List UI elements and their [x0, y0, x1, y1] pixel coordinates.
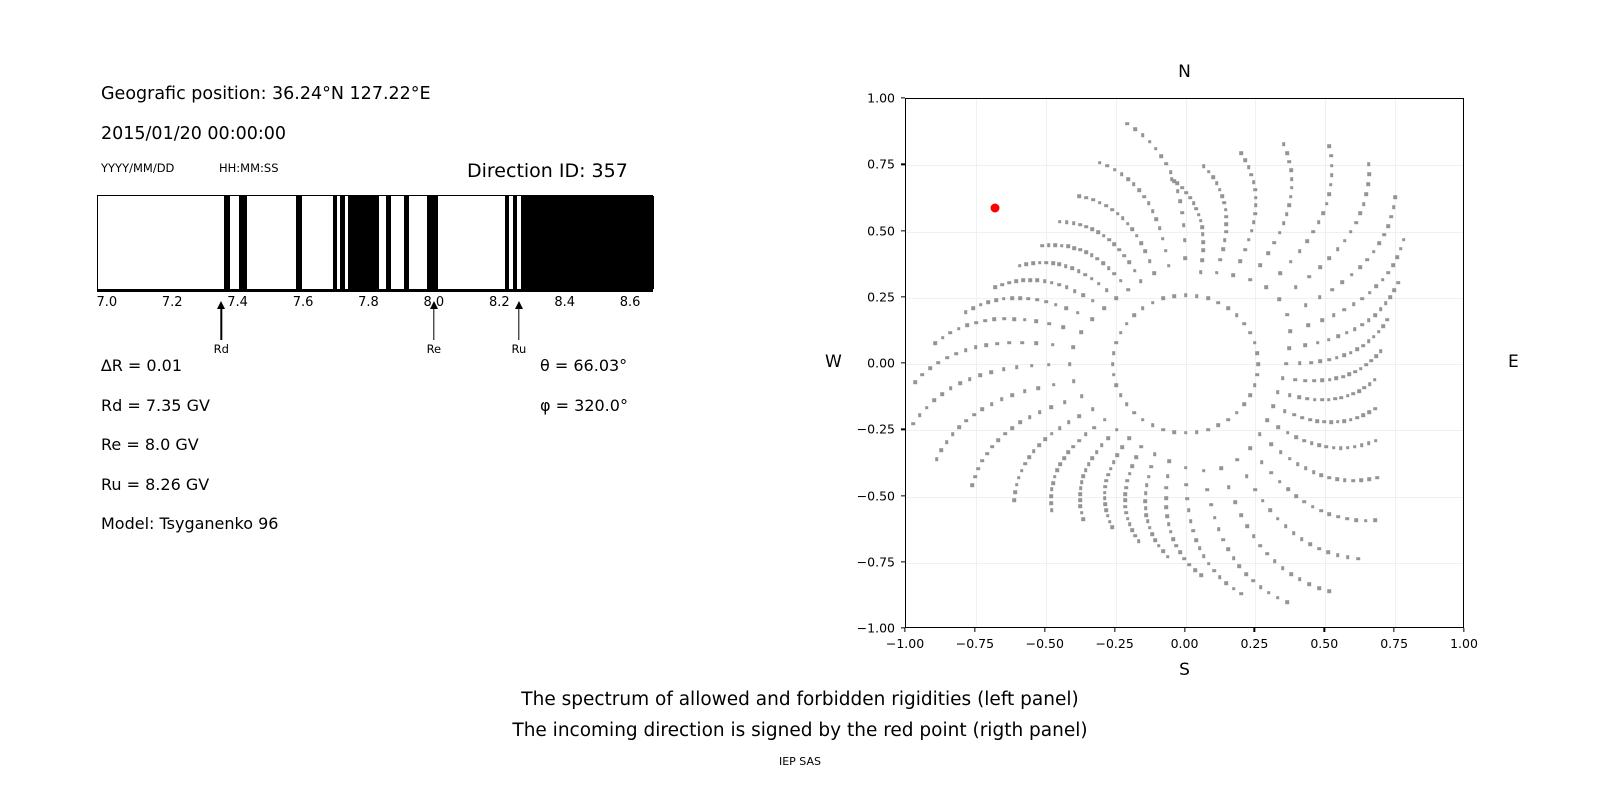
direction-dot	[1355, 518, 1359, 522]
direction-dot	[1051, 481, 1055, 485]
direction-dot	[1258, 263, 1262, 267]
direction-dot	[1143, 250, 1147, 254]
direction-dot	[1002, 297, 1006, 301]
direction-dot	[1124, 486, 1128, 490]
direction-dot	[1084, 433, 1088, 437]
forbidden-band	[239, 196, 247, 289]
direction-dot	[1023, 318, 1027, 322]
rigidity-spectrum-chart	[97, 195, 653, 290]
direction-dot	[1032, 449, 1036, 453]
direction-dot	[1359, 367, 1363, 371]
y-tick-mark	[901, 429, 905, 430]
direction-dot	[1286, 431, 1290, 435]
direction-dot	[1119, 393, 1123, 397]
direction-dot	[1335, 376, 1339, 380]
direction-dot	[1148, 140, 1152, 144]
direction-dot	[1289, 330, 1293, 334]
direction-dot	[1224, 208, 1228, 212]
direction-dot	[1035, 298, 1039, 302]
direction-dot	[937, 361, 941, 365]
x-tick-mark	[1393, 628, 1394, 632]
direction-dot	[1135, 234, 1139, 238]
direction-dot	[1178, 551, 1182, 555]
direction-dot	[1235, 313, 1239, 317]
gridline-vertical	[976, 99, 977, 627]
x-tick-label: 0.25	[1240, 636, 1268, 651]
direction-dot	[1220, 194, 1224, 198]
direction-dot	[1132, 183, 1136, 187]
direction-dot	[1250, 173, 1254, 177]
direction-dot	[1037, 443, 1041, 447]
direction-dot	[1091, 228, 1095, 232]
x-tick-mark	[1254, 628, 1255, 632]
direction-dot	[1103, 485, 1107, 489]
spectrum-x-tick-label: 7.4	[227, 295, 248, 310]
direction-dot	[1113, 168, 1117, 172]
direction-dot	[1130, 528, 1134, 532]
direction-dot	[1161, 550, 1165, 554]
direction-dot	[1189, 519, 1193, 523]
direction-dot	[1070, 267, 1074, 271]
direction-dot	[1013, 491, 1017, 495]
direction-dot	[1278, 480, 1282, 484]
forbidden-band	[404, 196, 409, 289]
direction-dot	[1288, 394, 1292, 398]
direction-dot	[1242, 403, 1246, 407]
direction-dot	[1360, 444, 1364, 448]
direction-dot	[1353, 445, 1357, 449]
direction-dot	[1184, 466, 1188, 470]
direction-dot	[1347, 373, 1351, 377]
spectrum-x-tick-label: 8.6	[620, 295, 641, 310]
direction-dot	[1110, 208, 1114, 212]
direction-dot	[1373, 313, 1377, 317]
direction-dot	[1188, 196, 1192, 200]
direction-dot	[1300, 537, 1304, 541]
direction-dot	[1256, 362, 1260, 366]
direction-dot	[978, 373, 982, 377]
direction-dot	[1312, 470, 1316, 474]
direction-dot	[1090, 254, 1094, 258]
direction-dot	[1147, 475, 1151, 479]
direction-dot	[1367, 442, 1371, 446]
direction-dot	[1076, 311, 1080, 315]
asymptotic-direction-panel: −1.00−0.75−0.50−0.250.000.250.500.751.00…	[800, 40, 1560, 660]
direction-dot	[1111, 526, 1115, 530]
direction-dot	[1108, 520, 1112, 524]
direction-dot	[1258, 544, 1262, 548]
compass-label-north: N	[1178, 62, 1191, 82]
direction-dot	[1116, 453, 1120, 457]
direction-dot	[1188, 563, 1192, 567]
direction-dot	[1067, 420, 1071, 424]
direction-dot	[1077, 269, 1081, 273]
direction-dot	[1122, 254, 1126, 258]
spectrum-x-tick-label: 7.6	[293, 295, 314, 310]
marker-label: Re	[427, 342, 442, 356]
direction-dot	[1333, 397, 1337, 401]
direction-dot	[1158, 227, 1162, 231]
direction-dot	[1374, 519, 1378, 523]
direction-dot	[1265, 418, 1269, 422]
direction-dot	[1320, 379, 1324, 383]
y-tick-mark	[901, 561, 905, 562]
direction-dot	[1367, 478, 1371, 482]
direction-dot	[1065, 286, 1069, 290]
direction-dot	[940, 449, 944, 453]
direction-dot	[1153, 538, 1157, 542]
direction-dot	[1271, 404, 1275, 408]
direction-dot	[1105, 479, 1109, 483]
x-tick-mark	[1184, 628, 1185, 632]
compass-label-west: W	[825, 352, 842, 372]
direction-dot	[1127, 261, 1131, 265]
x-tick-mark	[1324, 628, 1325, 632]
direction-dot	[1360, 297, 1364, 301]
direction-dot	[1180, 211, 1184, 215]
parameter-row: ∆R = 0.01	[101, 356, 182, 375]
direction-dot	[964, 348, 968, 352]
direction-dot	[1040, 244, 1044, 248]
forbidden-band	[386, 196, 391, 289]
direction-dot	[1059, 462, 1063, 466]
direction-dot	[1373, 378, 1377, 382]
direction-dot	[1091, 299, 1095, 303]
direction-dot	[1233, 500, 1237, 504]
direction-dot	[1141, 133, 1145, 137]
direction-dot	[1326, 551, 1330, 555]
direction-dot	[1240, 592, 1244, 596]
direction-dot	[918, 413, 922, 417]
direction-dot	[1121, 446, 1125, 450]
x-tick-label: 0.50	[1310, 636, 1338, 651]
direction-dot	[1115, 383, 1119, 387]
direction-dot	[1220, 466, 1224, 470]
direction-dot	[1012, 498, 1016, 502]
direction-dot	[977, 467, 981, 471]
direction-dot	[1311, 505, 1315, 509]
direction-dot	[1372, 335, 1376, 339]
direction-dot	[1399, 247, 1403, 251]
direction-dot	[1054, 243, 1058, 247]
direction-dot	[1276, 517, 1280, 521]
direction-dot	[1255, 373, 1259, 377]
direction-dot	[1310, 441, 1314, 445]
direction-dot	[1285, 151, 1289, 155]
direction-dot	[1392, 205, 1396, 209]
direction-dot	[1105, 288, 1109, 292]
direction-dot	[1035, 342, 1039, 346]
direction-dot	[1079, 505, 1083, 509]
direction-dot	[1103, 491, 1107, 495]
direction-dot	[1318, 265, 1322, 269]
direction-dot	[1200, 226, 1204, 230]
direction-dot	[1390, 215, 1394, 219]
direction-dot	[1127, 288, 1131, 292]
direction-dot	[1101, 261, 1105, 265]
direction-dot	[1312, 230, 1316, 234]
direction-dot	[1120, 172, 1124, 176]
direction-dot	[911, 422, 915, 426]
direction-dot	[1049, 405, 1053, 409]
direction-dot	[1068, 362, 1072, 366]
spectrum-x-tick-label: 7.8	[358, 295, 379, 310]
direction-dot	[1327, 144, 1331, 148]
y-tick-label: 0.75	[843, 157, 895, 172]
direction-dot	[1087, 462, 1091, 466]
direction-dot	[1367, 162, 1371, 166]
direction-dot	[1303, 500, 1307, 504]
direction-dot	[1113, 272, 1117, 276]
direction-dot	[1248, 278, 1252, 282]
direction-dot	[1100, 444, 1104, 448]
direction-dot	[996, 342, 1000, 346]
y-tick-mark	[901, 164, 905, 165]
direction-dot	[1327, 338, 1331, 342]
rigidity-spectrum-panel: Geografic position: 36.24°N 127.22°E 201…	[0, 0, 760, 660]
x-tick-label: 1.00	[1450, 636, 1478, 651]
direction-dot	[1161, 428, 1165, 432]
direction-dot	[1352, 303, 1356, 307]
direction-dot	[1047, 243, 1051, 247]
direction-dot	[1126, 222, 1130, 226]
direction-dot	[1147, 202, 1151, 206]
direction-dot	[1072, 222, 1076, 226]
direction-dot	[1362, 202, 1366, 206]
direction-dot	[1386, 271, 1390, 275]
direction-dot	[1335, 477, 1339, 481]
direction-dot	[1029, 278, 1033, 282]
direction-dot	[971, 306, 975, 310]
x-tick-mark	[1463, 628, 1464, 632]
direction-dot	[1112, 243, 1116, 247]
direction-dot	[1294, 494, 1298, 498]
direction-dot	[1247, 238, 1251, 242]
direction-dot	[1104, 204, 1108, 208]
direction-dot	[970, 484, 974, 488]
direction-dot	[1106, 436, 1110, 440]
forbidden-band	[427, 196, 438, 289]
direction-dot	[1102, 234, 1106, 238]
spectrum-x-tick-label: 8.2	[489, 295, 510, 310]
direction-dot	[1292, 531, 1296, 535]
direction-dot	[1054, 303, 1058, 307]
direction-dot	[1329, 183, 1333, 187]
direction-dot	[1154, 147, 1158, 151]
direction-dot	[1209, 503, 1213, 507]
direction-dot	[990, 370, 994, 374]
direction-dot	[958, 382, 962, 386]
direction-dot	[1327, 192, 1331, 196]
direction-dot	[1183, 238, 1187, 242]
direction-dot	[1133, 128, 1137, 132]
direction-dot	[1148, 259, 1152, 263]
direction-dot	[1245, 525, 1249, 529]
y-tick-mark	[901, 230, 905, 231]
direction-dot	[1286, 488, 1290, 492]
direction-dot	[1361, 344, 1365, 348]
direction-dot	[1078, 223, 1082, 227]
direction-dot	[1057, 283, 1061, 287]
direction-dot	[1014, 279, 1018, 283]
direction-dot	[1313, 398, 1317, 402]
direction-dot	[1128, 523, 1132, 527]
spectrum-x-tick-label: 8.4	[554, 295, 575, 310]
direction-dot	[1167, 264, 1171, 268]
direction-dot	[1107, 266, 1111, 270]
direction-dot	[1231, 273, 1235, 277]
direction-dot	[1116, 212, 1120, 216]
direction-dot	[1184, 483, 1188, 487]
direction-dot	[1098, 161, 1102, 165]
direction-dot	[1349, 230, 1353, 234]
direction-dot	[1343, 478, 1347, 482]
direction-dot	[1084, 468, 1088, 472]
direction-dot	[1330, 164, 1334, 168]
direction-dot	[1011, 426, 1015, 430]
direction-dot	[1166, 555, 1170, 559]
direction-dot	[1259, 585, 1263, 589]
direction-dot	[1171, 537, 1175, 541]
direction-dot	[974, 345, 978, 349]
direction-dot	[1169, 171, 1173, 175]
direction-dot	[1125, 122, 1129, 126]
direction-dot	[1028, 415, 1032, 419]
gridline-vertical	[1325, 99, 1326, 627]
arrow-up-icon	[430, 301, 438, 309]
direction-dot	[1151, 424, 1155, 428]
marker-stem	[221, 308, 222, 340]
direction-dot	[1376, 476, 1380, 480]
direction-dot	[1377, 330, 1381, 334]
direction-dot	[1289, 260, 1293, 264]
spectrum-x-tick-label: 7.0	[96, 295, 117, 310]
direction-dot	[1193, 568, 1197, 572]
direction-dot	[1132, 411, 1136, 415]
direction-dot	[1055, 469, 1059, 473]
direction-dot	[913, 380, 917, 384]
y-tick-label: 0.00	[843, 356, 895, 371]
direction-dot	[1382, 233, 1386, 237]
direction-dot	[1199, 574, 1203, 578]
direction-dot	[1341, 375, 1345, 379]
direction-dot	[1141, 306, 1145, 310]
direction-dot	[1290, 186, 1294, 190]
direction-dot	[1197, 213, 1201, 217]
direction-dot	[1308, 418, 1312, 422]
direction-dot	[1239, 151, 1243, 155]
direction-dot	[1349, 418, 1353, 422]
direction-dot	[1183, 557, 1187, 561]
direction-dot	[1384, 302, 1388, 306]
direction-dot	[1035, 320, 1039, 324]
direction-dot	[1305, 397, 1309, 401]
plot-canvas	[906, 99, 1463, 627]
y-tick-label: 0.25	[843, 289, 895, 304]
direction-dot	[1381, 278, 1385, 282]
direction-dot	[1218, 575, 1222, 579]
direction-dot	[1153, 452, 1157, 456]
direction-dot	[1217, 528, 1221, 532]
direction-dot	[1109, 467, 1113, 471]
direction-dot	[1161, 297, 1165, 301]
direction-dot	[1019, 421, 1023, 425]
direction-dot	[1277, 425, 1281, 429]
direction-dot	[1072, 379, 1076, 383]
direction-dot	[1091, 198, 1095, 202]
direction-dot	[1284, 362, 1288, 366]
direction-dot	[1318, 295, 1322, 299]
direction-dot	[1252, 220, 1256, 224]
direction-dot	[1049, 501, 1053, 505]
x-tick-label: −0.50	[1026, 636, 1064, 651]
direction-dot	[1389, 295, 1393, 299]
direction-dot	[1020, 341, 1024, 345]
direction-dot	[1169, 530, 1173, 534]
direction-dot	[1278, 231, 1282, 235]
direction-dot	[1164, 496, 1168, 500]
x-tick-label: −1.00	[886, 636, 924, 651]
direction-dot	[1267, 591, 1271, 595]
direction-dot	[932, 399, 936, 403]
direction-dot	[1201, 249, 1205, 253]
direction-dot	[1058, 263, 1062, 267]
marker-label: Rd	[214, 342, 229, 356]
direction-dot	[1206, 428, 1210, 432]
direction-dot	[964, 419, 968, 423]
direction-dot	[1345, 331, 1349, 335]
forbidden-band	[224, 196, 231, 289]
direction-dot	[1245, 475, 1249, 479]
direction-dot	[1342, 308, 1346, 312]
direction-dot	[1071, 345, 1075, 349]
direction-dot	[1202, 164, 1206, 168]
direction-dot	[990, 402, 994, 406]
gridline-vertical	[1395, 99, 1396, 627]
direction-dot	[1206, 297, 1210, 301]
direction-dot	[1323, 420, 1327, 424]
direction-dot	[1288, 346, 1292, 350]
direction-dot	[1332, 446, 1336, 450]
direction-dot	[1252, 535, 1256, 539]
direction-dot	[1133, 534, 1137, 538]
direction-dot	[1027, 297, 1031, 301]
direction-dot	[1394, 195, 1398, 199]
direction-dot	[1238, 259, 1242, 263]
forbidden-band	[296, 196, 303, 289]
direction-dot	[1180, 186, 1184, 190]
direction-dot	[1253, 488, 1257, 492]
x-tick-mark	[1044, 628, 1045, 632]
direction-dot	[1044, 300, 1048, 304]
direction-dot	[1294, 285, 1298, 289]
direction-dot	[1167, 522, 1171, 526]
direction-dot	[1243, 158, 1247, 162]
direction-dot	[1201, 233, 1205, 237]
direction-dot	[1168, 460, 1172, 464]
direction-dot	[1195, 294, 1199, 298]
direction-dot	[1367, 340, 1371, 344]
direction-dot	[1273, 241, 1277, 245]
direction-dot	[1049, 494, 1053, 498]
direction-dot	[1142, 195, 1146, 199]
direction-dot	[1251, 579, 1255, 583]
x-tick-mark	[904, 628, 905, 632]
direction-dot	[1370, 359, 1374, 363]
direction-dot	[1340, 396, 1344, 400]
direction-dot	[1336, 515, 1340, 519]
direction-dot	[1325, 202, 1329, 206]
